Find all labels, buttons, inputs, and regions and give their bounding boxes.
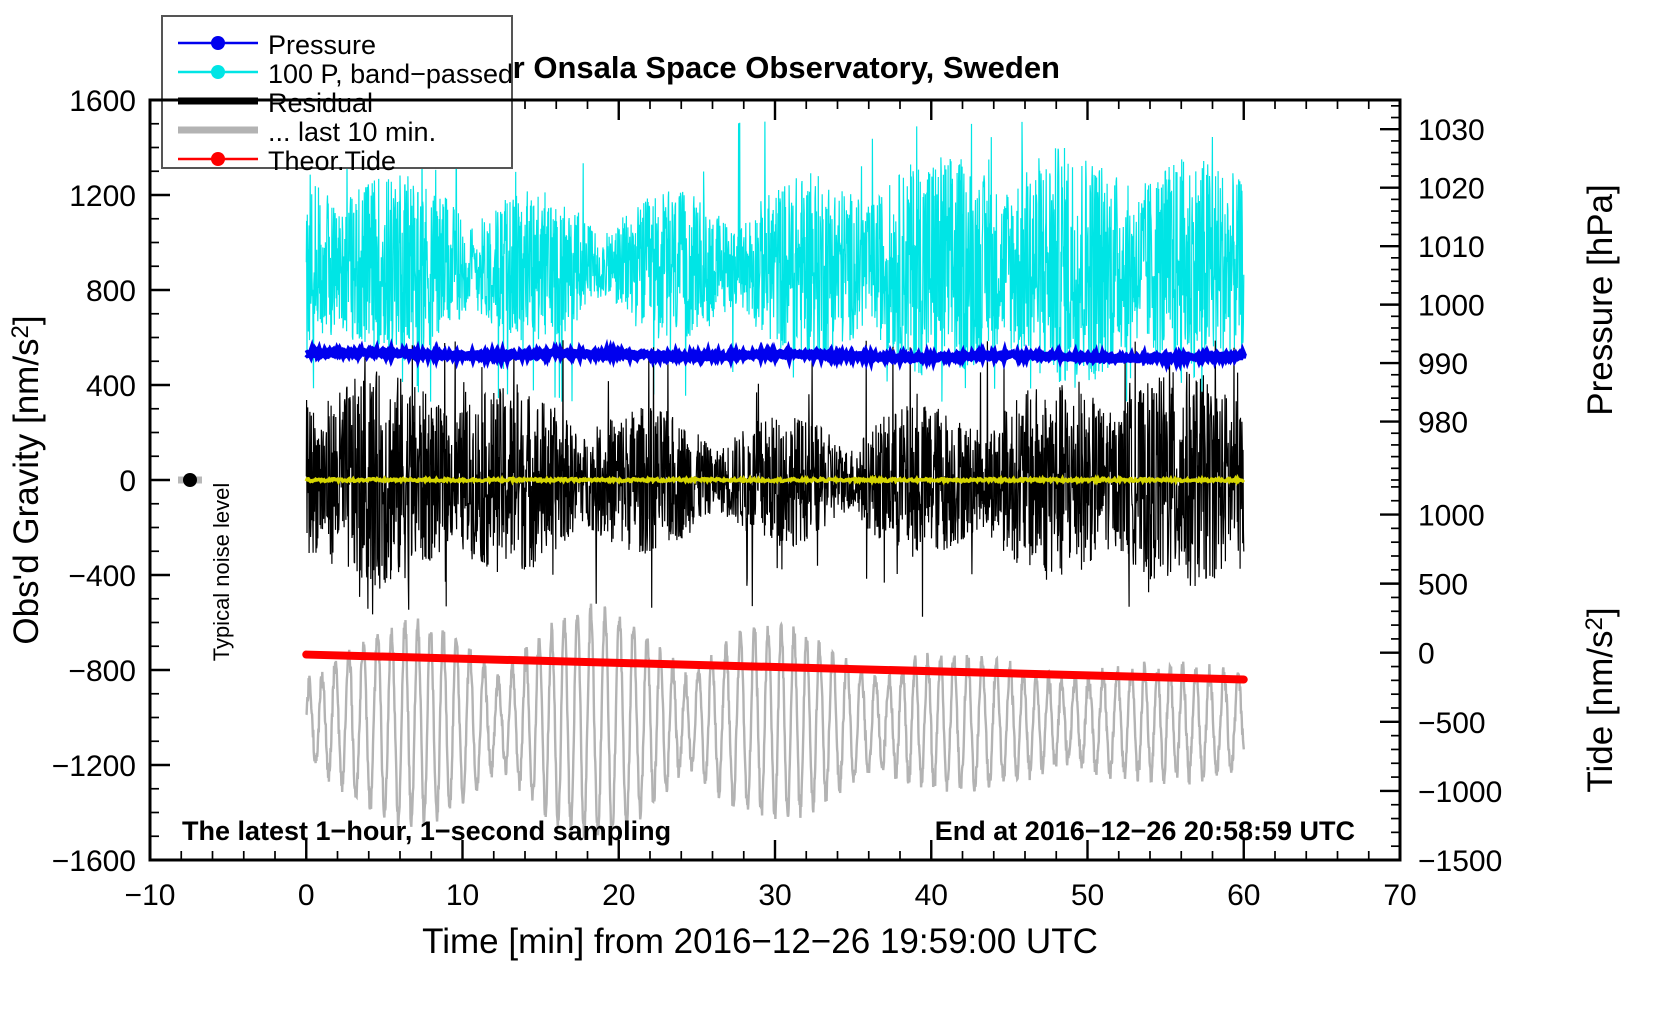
series-pressure-line — [306, 351, 1244, 359]
legend-swatch-marker — [211, 36, 225, 50]
y-axis-title-right-pressure: Pressure [hPa] — [1581, 184, 1620, 416]
y-axis-title-right-tide-text: Tide [nm/s — [1581, 631, 1620, 793]
legend-item-label: Pressure — [268, 30, 376, 60]
tide-tick-label: 1000 — [1418, 500, 1485, 533]
bottom-right-note: End at 2016−12−26 20:58:59 UTC — [935, 816, 1355, 846]
x-tick-label: 20 — [602, 879, 635, 912]
series-zero-line — [306, 479, 1244, 482]
y-tick-label: −400 — [68, 560, 136, 593]
y-axis-title-left: Obs'd Gravity [nm/s2] — [7, 315, 46, 644]
x-tick-label: 50 — [1071, 879, 1104, 912]
pressure-tick-label: 1010 — [1418, 231, 1485, 264]
legend-item-label: 100 P, band−passed — [268, 59, 513, 89]
tide-tick-label: −1500 — [1418, 845, 1502, 878]
pressure-tick-label: 1000 — [1418, 290, 1485, 323]
tide-tick-label: −500 — [1418, 707, 1486, 740]
legend-swatch-marker — [211, 152, 225, 166]
x-tick-label: 10 — [446, 879, 479, 912]
chart-page: −10010203040506070 −1600−1200−800−400040… — [0, 0, 1660, 1020]
tide-tick-label: −1000 — [1418, 776, 1502, 809]
x-tick-label: −10 — [125, 879, 176, 912]
x-tick-label: 60 — [1227, 879, 1260, 912]
pressure-tick-label: 1020 — [1418, 173, 1485, 206]
bottom-left-note: The latest 1−hour, 1−second sampling — [182, 816, 671, 846]
legend-swatch-marker — [211, 65, 225, 79]
gravimeter-chart: −10010203040506070 −1600−1200−800−400040… — [0, 0, 1660, 1020]
noise-level-label: Typical noise level — [209, 483, 234, 662]
pressure-tick-label: 1030 — [1418, 114, 1485, 147]
y-tick-label: 1200 — [69, 180, 136, 213]
x-tick-label: 0 — [298, 879, 315, 912]
y-tick-label: −1600 — [52, 845, 136, 878]
legend-item-label: Residual — [268, 88, 373, 118]
y-tick-label: 800 — [86, 275, 136, 308]
legend-item-label: Theor.Tide — [268, 146, 396, 176]
x-tick-label: 30 — [758, 879, 791, 912]
y-tick-label: 1600 — [69, 85, 136, 118]
y-tick-label: −1200 — [52, 750, 136, 783]
tide-tick-label: 500 — [1418, 569, 1468, 602]
y-axis-title-left-text: Obs'd Gravity [nm/s — [7, 338, 46, 644]
pressure-tick-label: 990 — [1418, 348, 1468, 381]
tide-tick-label: 0 — [1418, 638, 1435, 671]
pressure-tick-label: 980 — [1418, 407, 1468, 440]
y-tick-label: −800 — [68, 655, 136, 688]
y-tick-label: 400 — [86, 370, 136, 403]
legend-item-label: ... last 10 min. — [268, 117, 436, 147]
y-tick-label: 0 — [119, 465, 136, 498]
x-tick-label: 40 — [915, 879, 948, 912]
x-axis-title: Time [min] from 2016−12−26 19:59:00 UTC — [422, 922, 1098, 961]
x-tick-label: 70 — [1383, 879, 1416, 912]
y-axis-title-right-tide: Tide [nm/s2] — [1581, 607, 1620, 792]
legend: Pressure100 P, band−passedResidual... la… — [162, 16, 513, 176]
